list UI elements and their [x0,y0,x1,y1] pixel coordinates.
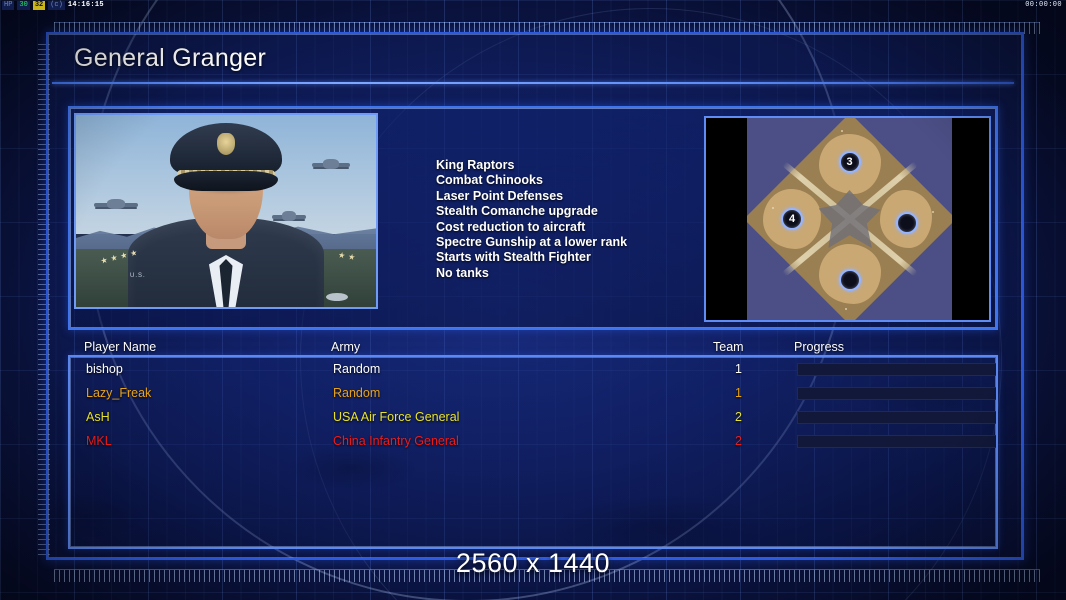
osd-timer: 00:00:00 [1023,0,1064,11]
ability-item: Combat Chinooks [436,173,686,188]
player-army: USA Air Force General [333,410,459,424]
title-divider [52,82,1014,84]
osd-chip-1: 30 [17,1,29,10]
player-army: Random [333,386,380,400]
aircraft-icon [272,215,306,219]
table-row[interactable]: bishop Random 1 [70,357,996,381]
osd-chip-2: 32 [33,1,45,10]
game-screen: HP 30 32 (c) 14:16:15 00:00:00 General G… [0,0,1066,600]
osd-status-bar: HP 30 32 (c) 14:16:15 [0,0,106,11]
aircraft-icon [312,163,350,167]
player-team: 1 [718,386,742,400]
general-portrait: ★★★★ ★★ U.S. [74,113,378,309]
map-resource-dot [772,207,774,209]
ability-item: No tanks [436,266,686,281]
ability-item: Cost reduction to aircraft [436,220,686,235]
map-start-position[interactable]: 4 [781,208,803,230]
title-bar: General Granger [48,34,1018,82]
player-progress-bar [797,387,998,400]
player-progress-bar [797,435,998,448]
cap-eagle-badge-icon [217,133,235,155]
ability-item: Laser Point Defenses [436,189,686,204]
map-preview[interactable]: 3 4 [704,116,991,322]
ability-item: Spectre Gunship at a lower rank [436,235,686,250]
map-start-position[interactable] [839,269,861,291]
table-row[interactable]: MKL China Infantry General 2 [70,429,996,453]
portrait-image: ★★★★ ★★ U.S. [76,115,376,307]
player-list: bishop Random 1 Lazy_Freak Random 1 AsH … [68,355,998,549]
player-progress-bar [797,411,998,424]
osd-chip-3: (c) [48,1,65,10]
osd-chip-0: HP [2,1,14,10]
player-army: China Infantry General [333,434,459,448]
cap-bill [174,171,278,191]
player-name: Lazy_Freak [86,386,151,400]
column-header-army: Army [331,340,360,354]
player-name: bishop [86,362,123,376]
player-progress-bar [797,363,998,376]
table-row[interactable]: Lazy_Freak Random 1 [70,381,996,405]
map-start-position[interactable]: 3 [839,151,861,173]
resolution-overlay: 2560 x 1440 [0,548,1066,579]
map-resource-dot [932,211,934,213]
map-start-position[interactable] [896,212,918,234]
player-team: 1 [718,362,742,376]
player-name: MKL [86,434,112,448]
ability-item: Starts with Stealth Fighter [436,250,686,265]
player-army: Random [333,362,380,376]
column-header-progress: Progress [794,340,844,354]
page-title: General Granger [74,44,266,73]
top-rule-line [54,22,1040,23]
player-team: 2 [718,410,742,424]
column-header-team: Team [713,340,744,354]
wings-pin-icon [326,293,348,301]
player-name: AsH [86,410,110,424]
osd-clock: 14:16:15 [68,1,104,10]
table-row[interactable]: AsH USA Air Force General 2 [70,405,996,429]
player-team: 2 [718,434,742,448]
map-terrain: 3 4 [747,118,952,320]
ability-item: King Raptors [436,158,686,173]
aircraft-icon [94,203,138,207]
us-insignia-icon: U.S. [130,273,146,279]
column-header-player-name: Player Name [84,340,156,354]
general-abilities-list: King Raptors Combat Chinooks Laser Point… [436,158,686,281]
ability-item: Stealth Comanche upgrade [436,204,686,219]
